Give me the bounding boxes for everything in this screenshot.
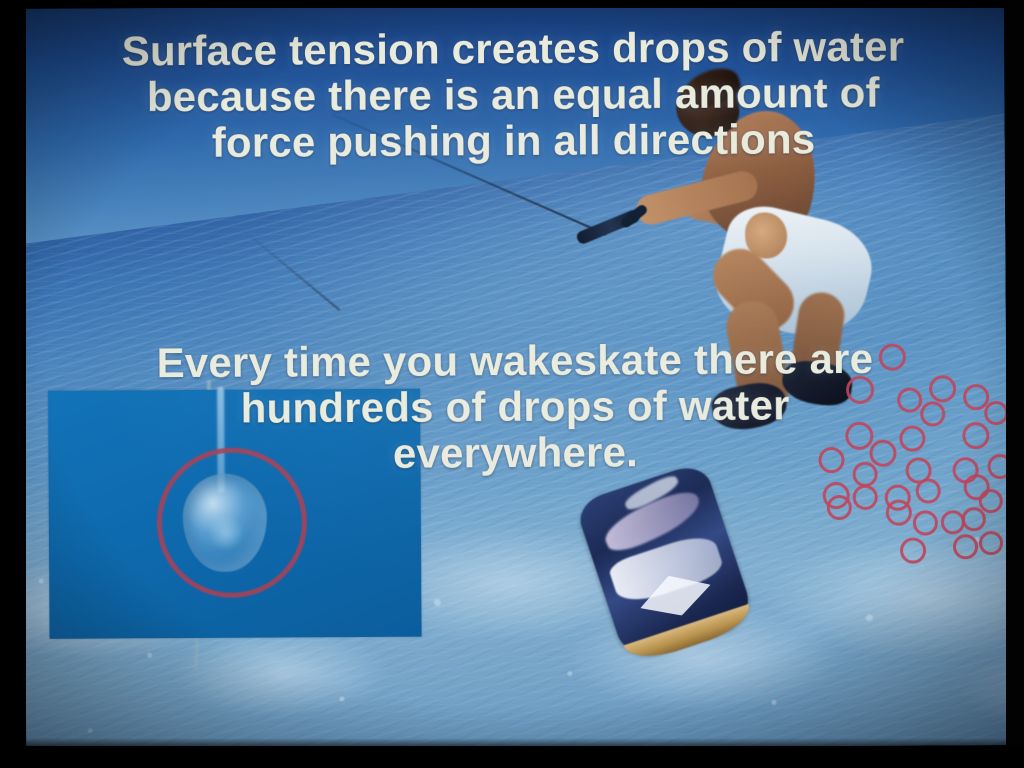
projected-slide-screenshot: Surface tension creates drops of water b… xyxy=(0,0,1024,768)
bezel-bottom xyxy=(0,746,1024,768)
bezel-left xyxy=(0,0,26,768)
paragraph-1-line-3: force pushing in all directions xyxy=(22,115,1004,167)
slide-paragraph-1: Surface tension creates drops of water b… xyxy=(22,23,1005,168)
slide-paragraph-2: Every time you wakeskate there are hundr… xyxy=(24,335,1007,480)
paragraph-2-line-2: hundreds of drops of water xyxy=(24,381,1006,433)
bezel-top xyxy=(0,0,1024,8)
presentation-slide: Surface tension creates drops of water b… xyxy=(22,3,1009,751)
bezel-right xyxy=(1006,0,1024,768)
paragraph-2-line-3: everywhere. xyxy=(24,427,1006,479)
paragraph-1-line-2: because there is an equal amount of xyxy=(22,69,1004,121)
paragraph-2-line-1: Every time you wakeskate there are xyxy=(24,335,1006,387)
paragraph-1-line-1: Surface tension creates drops of water xyxy=(22,23,1004,75)
